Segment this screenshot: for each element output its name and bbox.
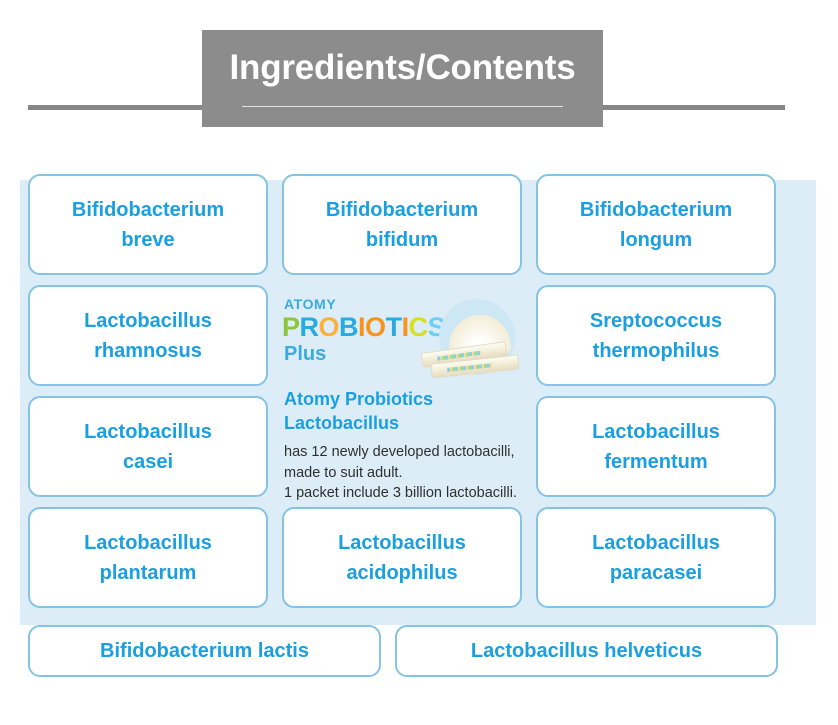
card-label-line2: paracasei [592,558,720,588]
card-label-line2: longum [580,225,732,255]
product-photo-image [417,297,527,387]
logo-letter-0: P [282,312,300,342]
card-lactobacillus-plantarum: Lactobacillusplantarum [28,507,268,608]
description-line2: made to suit adult. [284,463,532,484]
card-label-line1: Lactobacillus [84,417,212,447]
card-label-line1: Bifidobacterium [580,195,732,225]
card-label-line2: breve [72,225,224,255]
card-label: Lactobacillusacidophilus [338,528,466,588]
description-line3: 1 packet include 3 billion lactobacilli. [284,483,532,504]
card-bifidobacterium-longum: Bifidobacteriumlongum [536,174,776,275]
card-label: Bifidobacteriumlongum [580,195,732,255]
product-description: has 12 newly developed lactobacilli, mad… [284,442,532,504]
card-label: Lactobacillusrhamnosus [84,306,212,366]
logo-letter-3: B [339,312,358,342]
card-label: Sreptococcusthermophilus [590,306,722,366]
card-lactobacillus-acidophilus: Lactobacillusacidophilus [282,507,522,608]
card-label-line1: Bifidobacterium [72,195,224,225]
card-label-line1: Sreptococcus [590,306,722,336]
card-bifidobacterium-bifidum: Bifidobacteriumbifidum [282,174,522,275]
card-bifidobacterium-breve: Bifidobacteriumbreve [28,174,268,275]
card-label-line2: acidophilus [338,558,466,588]
logo-letter-6: T [386,312,402,342]
logo-letter-4: I [358,312,365,342]
card-label: Lactobacillusplantarum [84,528,212,588]
card-label-line1: Lactobacillus [592,528,720,558]
card-label-line2: casei [84,447,212,477]
card-label-line2: plantarum [84,558,212,588]
card-lactobacillus-helveticus: Lactobacillus helveticus [395,625,778,677]
logo-variant-text: Plus [284,343,326,366]
card-label-line1: Lactobacillus [84,306,212,336]
description-line1: has 12 newly developed lactobacilli, [284,442,532,463]
product-headline: Atomy Probiotics Lactobacillus [284,388,514,436]
card-bifidobacterium-lactis: Bifidobacterium lactis [28,625,381,677]
logo-letter-2: O [319,312,340,342]
page-header: Ingredients/Contents [0,0,838,150]
card-label: Lactobacillusparacasei [592,528,720,588]
card-label: Lactobacilluscasei [84,417,212,477]
card-sreptococcus-thermophilus: Sreptococcusthermophilus [536,285,776,386]
card-lactobacillus-fermentum: Lactobacillusfermentum [536,396,776,497]
card-label-line1: Bifidobacterium [326,195,478,225]
card-label-line1: Lactobacillus [592,417,720,447]
card-lactobacillus-casei: Lactobacilluscasei [28,396,268,497]
card-label-line1: Lactobacillus [338,528,466,558]
header-title-plate: Ingredients/Contents [202,30,603,127]
logo-brand-text: ATOMY [284,296,336,312]
card-label: Lactobacillusfermentum [592,417,720,477]
card-lactobacillus-paracasei: Lactobacillusparacasei [536,507,776,608]
card-lactobacillus-rhamnosus: Lactobacillusrhamnosus [28,285,268,386]
card-label-line2: fermentum [592,447,720,477]
product-headline-line1: Atomy Probiotics [284,388,514,412]
logo-letter-1: R [300,312,319,342]
card-label-line1: Lactobacillus [84,528,212,558]
card-label: Bifidobacteriumbreve [72,195,224,255]
logo-letter-5: O [365,312,386,342]
card-label: Lactobacillus helveticus [471,636,702,666]
page-title: Ingredients/Contents [202,30,603,106]
logo-letter-7: I [402,312,409,342]
card-label: Bifidobacteriumbifidum [326,195,478,255]
product-info-block: ATOMY PROBIOTICS Plus Atomy Probiotics L… [282,285,527,497]
card-label: Bifidobacterium lactis [100,636,309,666]
card-label-line2: rhamnosus [84,336,212,366]
card-label-line2: bifidum [326,225,478,255]
header-title-underline [242,106,563,107]
product-headline-line2: Lactobacillus [284,412,514,436]
card-label-line2: thermophilus [590,336,722,366]
